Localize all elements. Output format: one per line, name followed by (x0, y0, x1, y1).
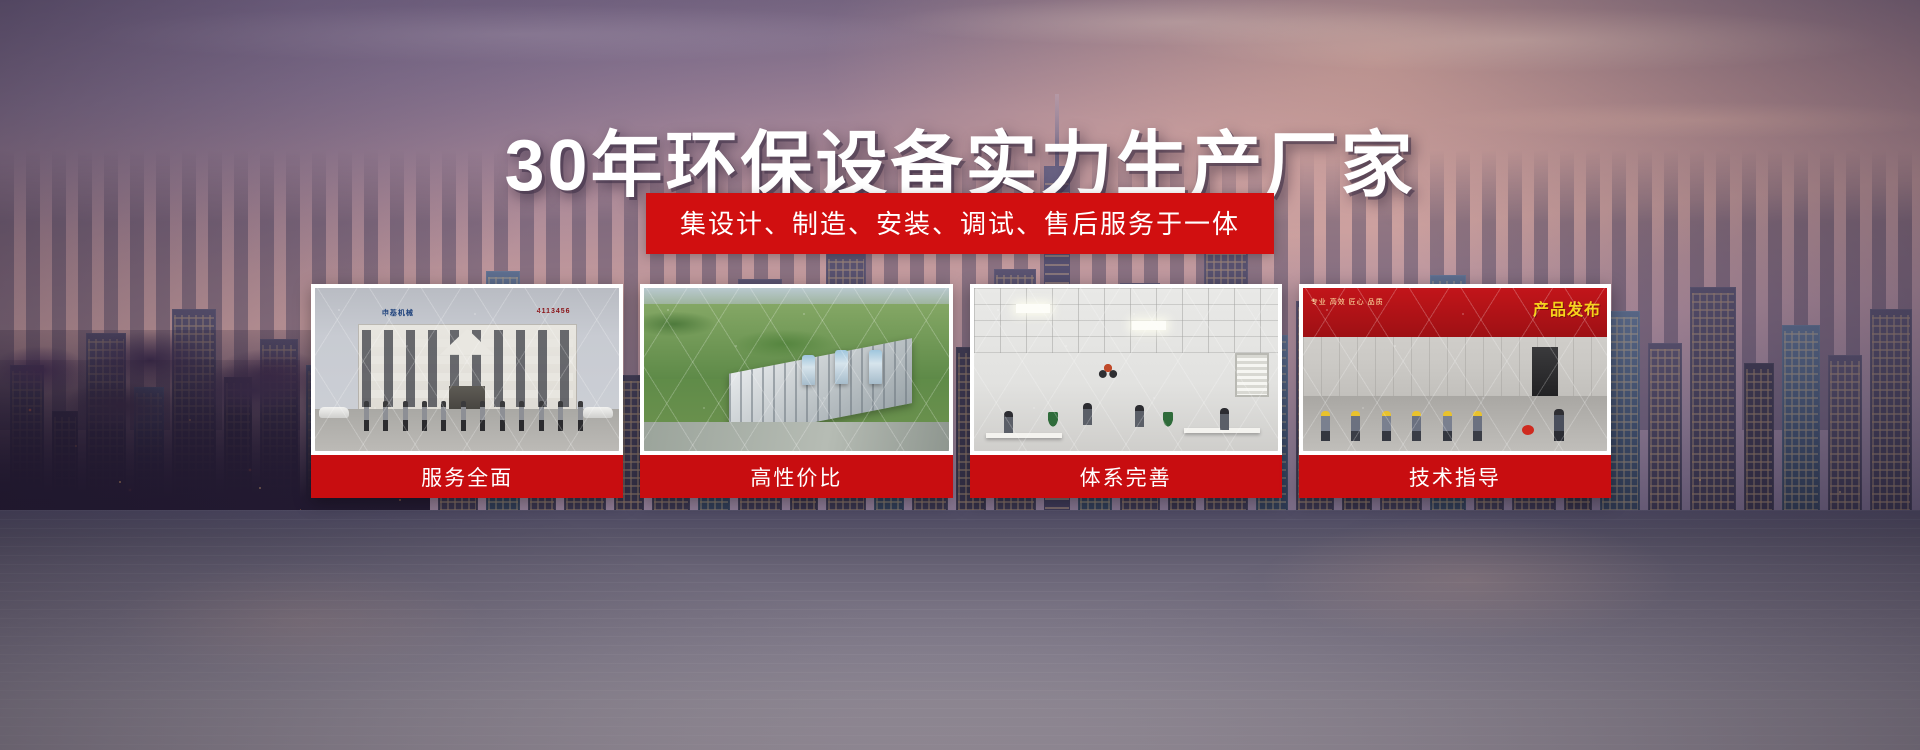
feature-card-2[interactable]: 高性价比 (640, 284, 952, 498)
card-photo-office-room (974, 288, 1278, 451)
card-photo-plant-aerial (644, 288, 948, 451)
feature-card-1[interactable]: 申基机械 4113456 服务全面 (311, 284, 623, 498)
feature-card-row: 申基机械 4113456 服务全面 (311, 284, 1611, 498)
card-caption-3: 体系完善 (970, 455, 1282, 498)
hero-banner: 30年环保设备实力生产厂家 集设计、制造、安装、调试、售后服务于一体 申基机械 … (0, 0, 1920, 750)
card-caption-1: 服务全面 (311, 455, 623, 498)
building-sign-text: 申基机械 (382, 308, 414, 318)
factory-banner-side-text: 专业 高效 匠心 品质 (1311, 298, 1384, 307)
feature-card-3[interactable]: 体系完善 (970, 284, 1282, 498)
feature-card-4[interactable]: 专业 高效 匠心 品质 (1299, 284, 1611, 498)
card-photo-office-building: 申基机械 4113456 (315, 288, 619, 451)
card-caption-2: 高性价比 (640, 455, 952, 498)
factory-red-banner: 专业 高效 匠心 品质 (1303, 288, 1607, 337)
subtitle-banner: 集设计、制造、安装、调试、售后服务于一体 (646, 193, 1274, 254)
card-photo-factory-floor: 专业 高效 匠心 品质 (1303, 288, 1607, 451)
card-caption-4: 技术指导 (1299, 455, 1611, 498)
building-phone-text: 4113456 (537, 308, 571, 315)
